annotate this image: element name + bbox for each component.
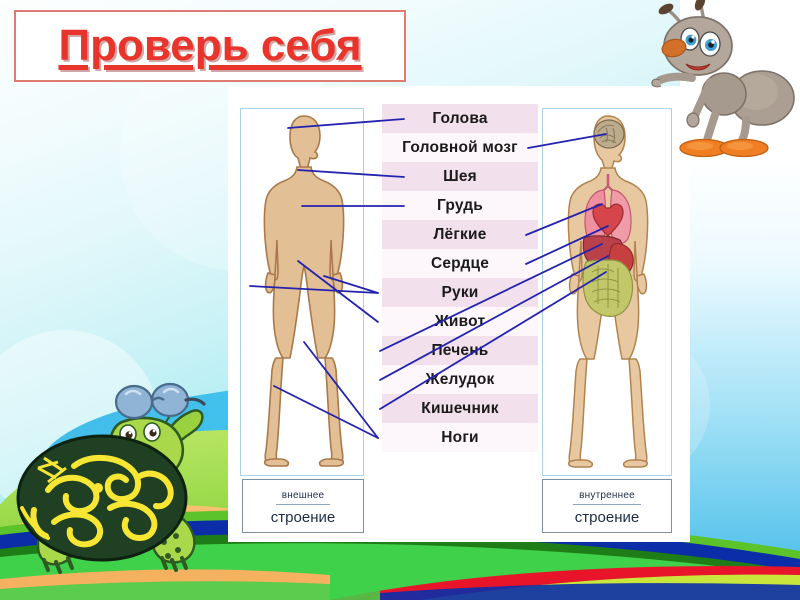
label-row[interactable]: Руки [382,278,538,307]
label-column: ГоловаГоловной мозгШеяГрудьЛёгкиеСердцеР… [382,104,538,476]
label-row[interactable]: Живот [382,307,538,336]
label-text: Кишечник [421,400,498,418]
title-box: Проверь себя [14,10,406,82]
organ-intestines [583,260,633,316]
page-title: Проверь себя [58,21,361,71]
label-row[interactable]: Печень [382,336,538,365]
caption-external-small: внешнее [276,490,330,505]
label-text: Ноги [441,429,478,447]
label-row[interactable]: Лёгкие [382,220,538,249]
caption-internal-small: внутреннее [573,490,641,505]
caption-external-big: строение [253,509,353,526]
organ-brain [594,120,624,148]
label-text: Головной мозг [402,139,518,157]
caption-internal: внутреннее строение [542,479,672,533]
label-row[interactable]: Сердце [382,249,538,278]
label-text: Печень [431,342,488,360]
diagram-card: ГоловаГоловной мозгШеяГрудьЛёгкиеСердцеР… [228,86,690,542]
label-text: Сердце [431,255,489,273]
label-text: Руки [441,284,478,302]
label-row[interactable]: Головной мозг [382,133,538,162]
label-text: Желудок [426,371,495,389]
caption-internal-big: строение [553,509,661,526]
cartoon-turtle-icon [14,370,249,595]
label-text: Лёгкие [433,226,486,244]
label-row[interactable]: Шея [382,162,538,191]
label-row[interactable]: Кишечник [382,394,538,423]
label-text: Живот [435,313,486,331]
slide-canvas: Проверь себя [0,0,800,600]
human-body-external-figure [252,112,356,468]
caption-external: внешнее строение [242,479,364,533]
cartoon-ant-icon [640,0,798,166]
label-text: Голова [432,110,487,128]
label-text: Шея [443,168,477,186]
label-row[interactable]: Желудок [382,365,538,394]
label-row[interactable]: Голова [382,104,538,133]
label-row[interactable]: Ноги [382,423,538,452]
label-text: Грудь [437,197,483,215]
label-row[interactable]: Грудь [382,191,538,220]
